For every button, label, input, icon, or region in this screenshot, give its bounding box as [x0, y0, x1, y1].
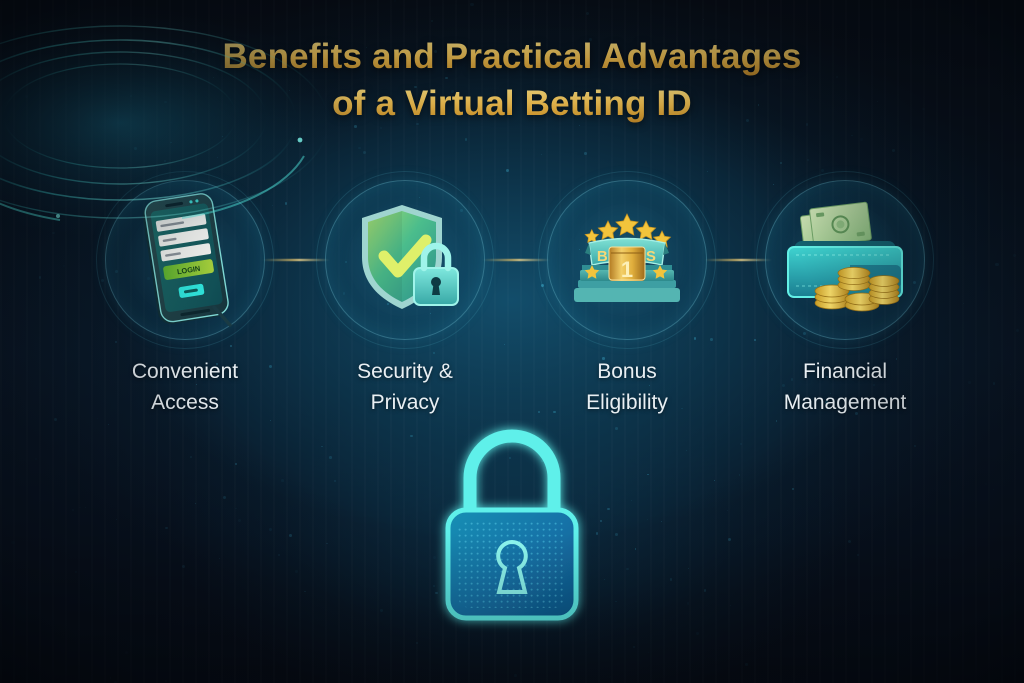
label-line-2: Eligibility	[522, 387, 732, 418]
node-financial-management[interactable]	[765, 180, 925, 340]
podium-place-number: 1	[621, 257, 633, 282]
infographic-canvas: Benefits and Practical Advantages of a V…	[0, 0, 1024, 683]
label-financial-management: Financial Management	[740, 356, 950, 418]
wallet-cash-coins-icon	[765, 180, 925, 340]
label-line-1: Financial	[740, 356, 950, 387]
label-line-1: Security &	[300, 356, 510, 387]
hero-light-rings	[0, 0, 358, 240]
label-security-privacy: Security & Privacy	[300, 356, 510, 418]
label-line-2: Access	[80, 387, 290, 418]
label-convenient-access: Convenient Access	[80, 356, 290, 418]
node-bonus-eligibility[interactable]: BONUS 1	[547, 180, 707, 340]
label-line-2: Management	[740, 387, 950, 418]
padlock-hologram-icon	[392, 420, 632, 635]
label-line-1: Convenient	[80, 356, 290, 387]
label-line-1: Bonus	[522, 356, 732, 387]
podium-trophy-bonus-icon: BONUS 1	[547, 180, 707, 340]
label-bonus-eligibility: Bonus Eligibility	[522, 356, 732, 418]
label-line-2: Privacy	[300, 387, 510, 418]
